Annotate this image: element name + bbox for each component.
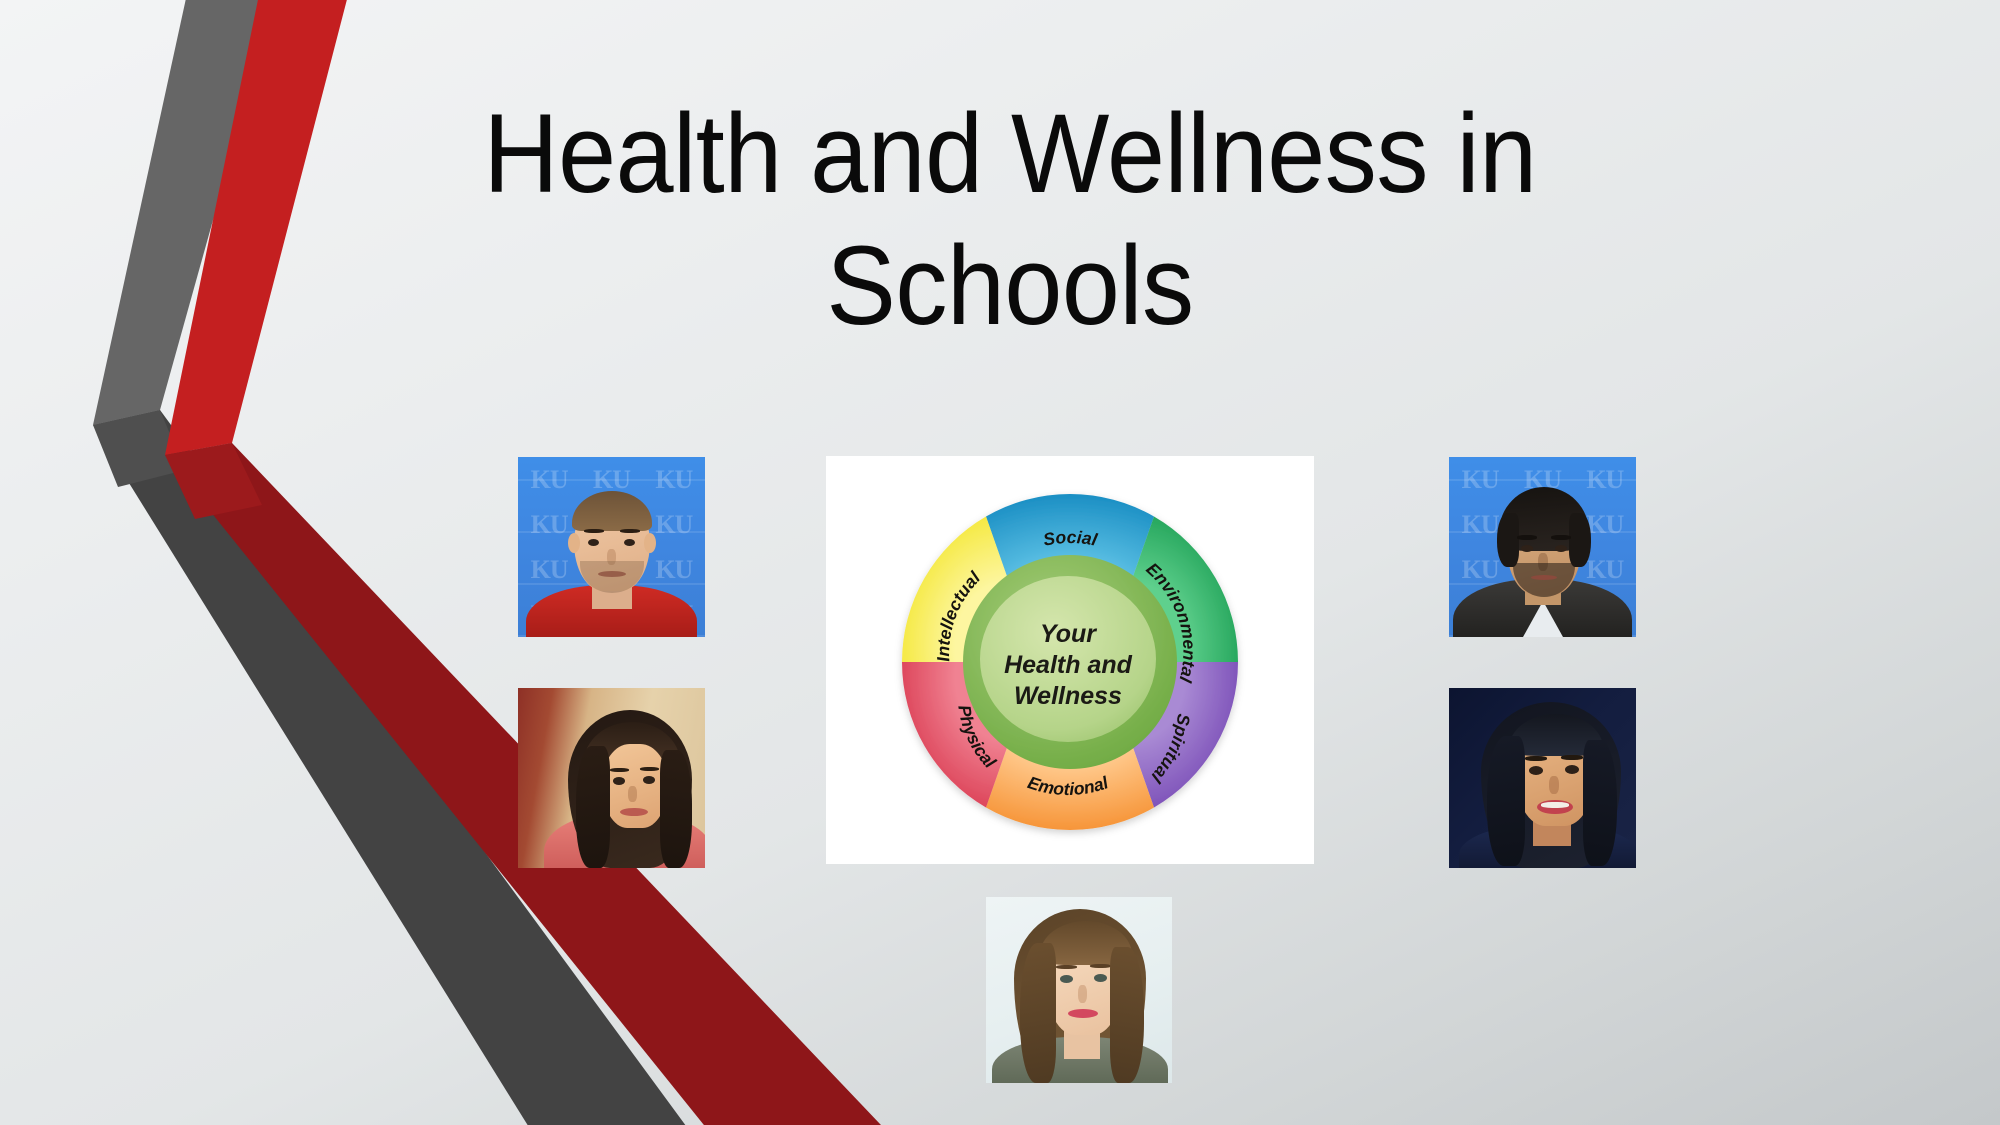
nose — [628, 786, 637, 802]
eye-right — [1555, 545, 1567, 552]
photo-backdrop: KUKUKU KUKUKU KUKUKU KUKUKU — [518, 457, 705, 637]
mouth — [1068, 1009, 1098, 1018]
hair-side-right — [1569, 513, 1591, 567]
eye-left — [1521, 545, 1533, 552]
ear-left — [568, 533, 580, 553]
brow-right — [1551, 535, 1571, 540]
eye-left — [613, 777, 625, 785]
red-band-bevel — [165, 443, 262, 519]
mouth — [1531, 575, 1557, 580]
photo-top-right: KUKUKU KUKUKU KUKUKU KUKUKU — [1449, 457, 1636, 637]
title-line-2: Schools — [406, 220, 1615, 352]
photo-top-left: KUKUKU KUKUKU KUKUKU KUKUKU — [518, 457, 705, 637]
hair-strand-left — [1020, 943, 1056, 1083]
brow-left — [1056, 965, 1077, 969]
eye-right — [1094, 974, 1107, 982]
brow-left — [610, 768, 629, 772]
eye-left — [1529, 766, 1543, 775]
page-title: Health and Wellness in Schools — [360, 88, 1660, 352]
eye-right — [643, 776, 655, 784]
photo-bottom-left — [518, 688, 705, 868]
photo-backdrop — [518, 688, 705, 868]
hair-strand-right — [1583, 740, 1617, 866]
photo-bottom-right — [1449, 688, 1636, 868]
nose — [1549, 776, 1559, 794]
brow-right — [640, 767, 659, 771]
gray-band-bevel — [93, 410, 185, 487]
mouth — [620, 808, 648, 816]
eye-left — [588, 539, 599, 546]
ear-right — [644, 533, 656, 553]
photo-backdrop: KUKUKU KUKUKU KUKUKU KUKUKU — [1449, 457, 1636, 637]
hair-side-left — [1497, 513, 1519, 567]
wheel-center-line-3: Wellness — [1014, 682, 1122, 710]
wheel-label-social: Social — [1042, 527, 1100, 550]
eye-left — [1060, 975, 1073, 983]
photo-backdrop — [986, 897, 1172, 1083]
eye-right — [624, 539, 635, 546]
wheel-center-line-1: Your — [1040, 620, 1097, 648]
presentation-slide: Health and Wellness in Schools — [0, 0, 2000, 1125]
hair-strand-right — [660, 750, 692, 868]
hair-strand-left — [576, 746, 610, 868]
title-line-1: Health and Wellness in — [406, 88, 1615, 220]
brow-left — [1525, 756, 1547, 761]
wheel-center-line-2: Health and — [1004, 651, 1133, 679]
photo-bottom-center — [986, 897, 1172, 1083]
eye-right — [1565, 765, 1579, 774]
brow-left — [1517, 535, 1537, 540]
hair-strand-left — [1487, 736, 1525, 866]
brow-right — [1561, 755, 1583, 760]
gray-band-upper — [93, 0, 280, 425]
nose — [1078, 985, 1087, 1003]
photo-backdrop — [1449, 688, 1636, 868]
hair-strand-right — [1110, 947, 1144, 1083]
brow-right — [1090, 964, 1111, 968]
red-band-upper — [165, 0, 352, 455]
teeth — [1541, 802, 1569, 808]
brow-left — [584, 529, 604, 533]
wellness-wheel-image: Social Environmental Spiritual Emotional… — [826, 456, 1314, 864]
brow-right — [620, 529, 640, 533]
